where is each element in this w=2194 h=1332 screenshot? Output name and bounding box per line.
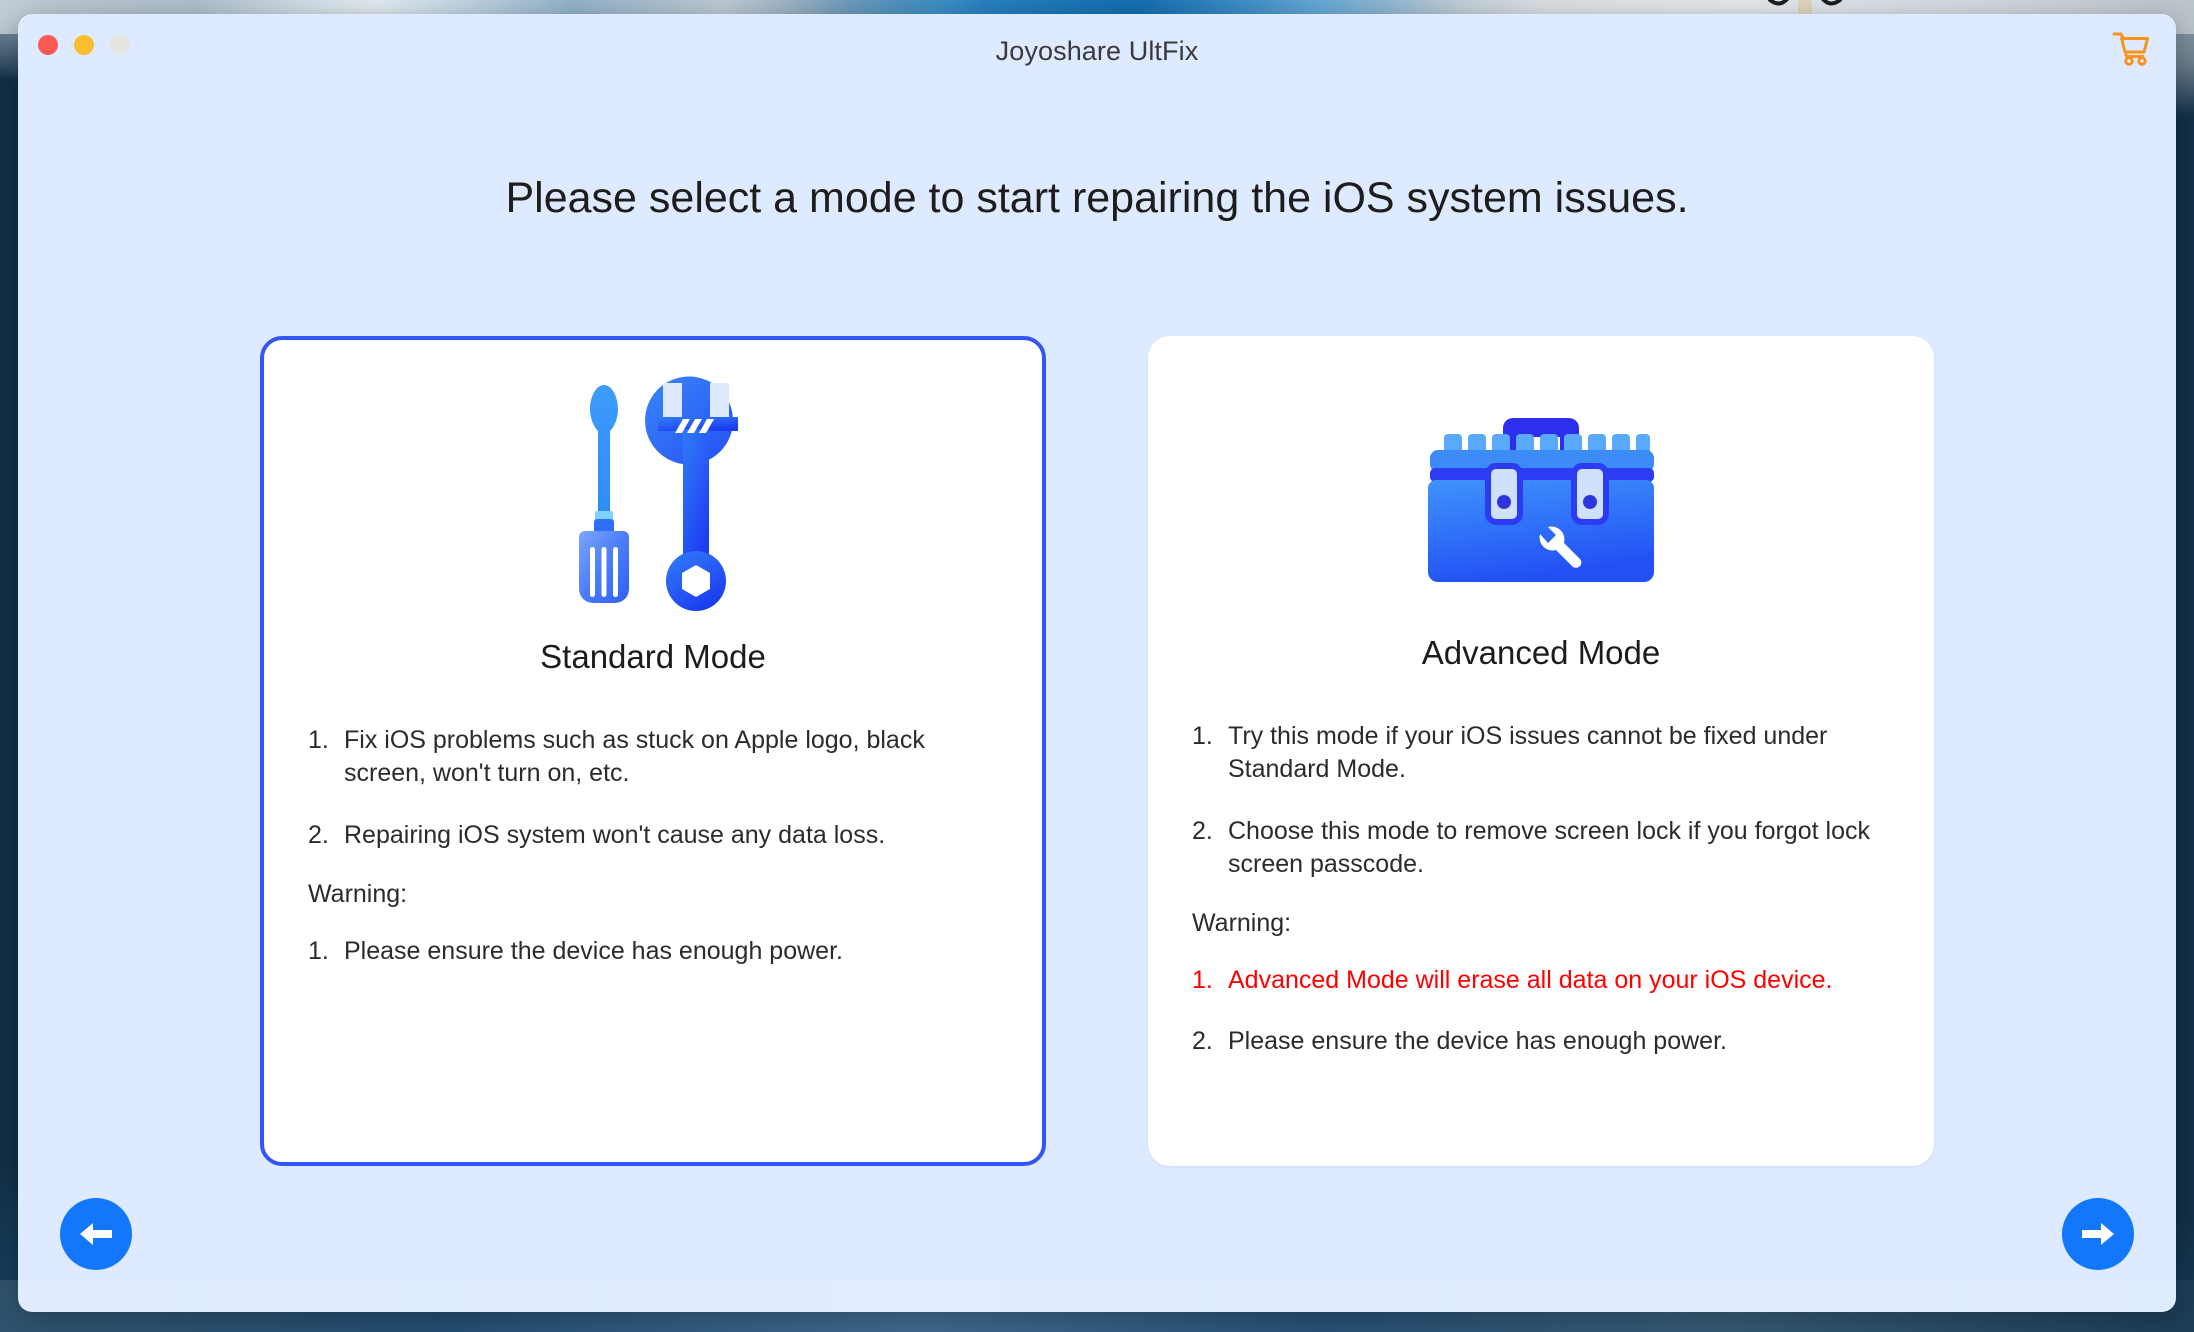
screwdriver-and-wrench-icon [264, 358, 1042, 628]
bullet-text: Try this mode if your iOS issues cannot … [1228, 720, 1890, 787]
mode-card-list: Standard Mode 1. Fix iOS problems such a… [18, 336, 2176, 1166]
warning-number: 1. [1192, 964, 1228, 997]
warning-number: 1. [308, 935, 344, 968]
arrow-right-icon [2078, 1219, 2118, 1249]
bullet-number: 2. [1192, 815, 1228, 882]
toolbox-icon [1148, 354, 1934, 624]
bullet-number: 2. [308, 819, 344, 852]
mode-card-advanced[interactable]: Advanced Mode 1. Try this mode if your i… [1148, 336, 1934, 1166]
mode-card-body: 1. Try this mode if your iOS issues cann… [1148, 672, 1934, 1059]
bullet-text: Fix iOS problems such as stuck on Apple … [344, 724, 998, 791]
bullet-text: Choose this mode to remove screen lock i… [1228, 815, 1890, 882]
warning-text: Please ensure the device has enough powe… [344, 935, 998, 968]
shopping-cart-icon[interactable] [2112, 30, 2150, 66]
mode-card-standard[interactable]: Standard Mode 1. Fix iOS problems such a… [260, 336, 1046, 1166]
bullet-item: 1. Fix iOS problems such as stuck on App… [308, 724, 998, 791]
next-button[interactable]: Next [2062, 1198, 2134, 1270]
mode-card-body: 1. Fix iOS problems such as stuck on App… [264, 676, 1042, 968]
screwdriver-and-wrench-glyph [558, 371, 748, 616]
warning-number: 2. [1192, 1025, 1228, 1058]
title-bar: Joyoshare UltFix [18, 14, 2176, 76]
warning-label: Warning: [1192, 909, 1890, 938]
desktop-wallpaper: Joyoshare UltFix Please select a mode to… [0, 0, 2194, 1332]
warning-label: Warning: [308, 880, 998, 909]
page-title: Please select a mode to start repairing … [18, 174, 2176, 223]
warning-item-danger: 1. Advanced Mode will erase all data on … [1192, 964, 1890, 997]
mode-card-title: Advanced Mode [1148, 634, 1934, 672]
warning-text: Please ensure the device has enough powe… [1228, 1025, 1890, 1058]
bullet-text: Repairing iOS system won't cause any dat… [344, 819, 998, 852]
bullet-item: 2. Choose this mode to remove screen loc… [1192, 815, 1890, 882]
toolbox-glyph [1416, 382, 1666, 597]
warning-item: 1. Please ensure the device has enough p… [308, 935, 998, 968]
bullet-number: 1. [1192, 720, 1228, 787]
warning-text: Advanced Mode will erase all data on you… [1228, 964, 1890, 997]
bullet-item: 1. Try this mode if your iOS issues cann… [1192, 720, 1890, 787]
mode-card-title: Standard Mode [264, 638, 1042, 676]
app-window: Joyoshare UltFix Please select a mode to… [18, 14, 2176, 1312]
bullet-item: 2. Repairing iOS system won't cause any … [308, 819, 998, 852]
bullet-number: 1. [308, 724, 344, 791]
shopping-cart-glyph [2112, 30, 2150, 66]
window-title: Joyoshare UltFix [18, 36, 2176, 67]
warning-item: 2. Please ensure the device has enough p… [1192, 1025, 1890, 1058]
back-button[interactable]: Back [60, 1198, 132, 1270]
arrow-left-icon [76, 1219, 116, 1249]
